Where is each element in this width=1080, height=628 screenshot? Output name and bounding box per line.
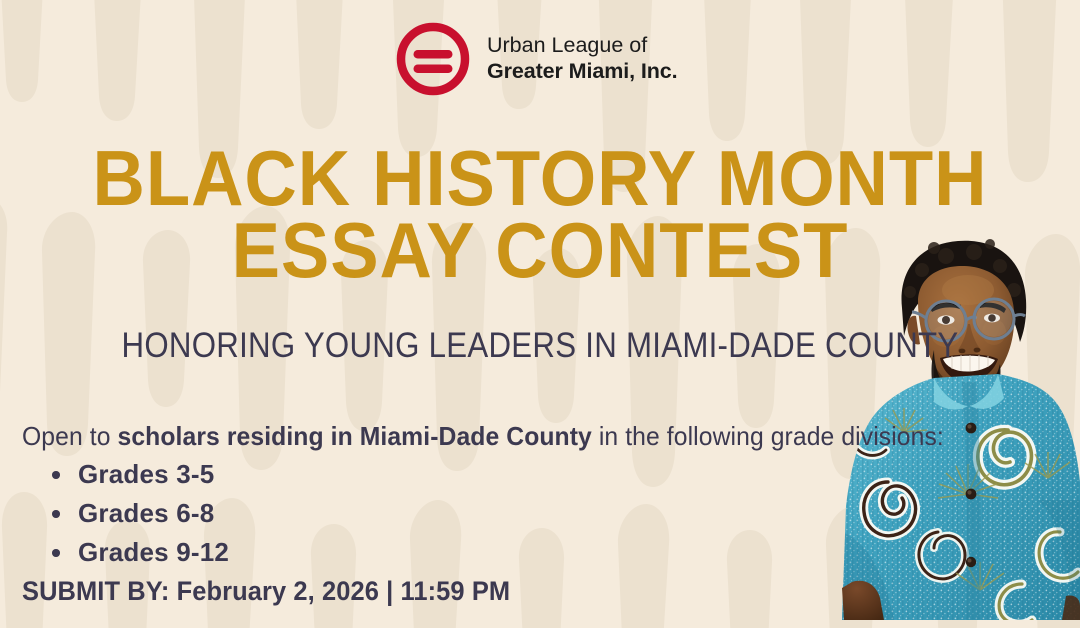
page-subtitle: HONORING YOUNG LEADERS IN MIAMI-DADE COU… xyxy=(65,328,1015,364)
poster-canvas: Urban League of Greater Miami, Inc. BLAC… xyxy=(0,0,1080,628)
urban-league-equal-sign-logo xyxy=(396,22,470,96)
list-item: Grades 3-5 xyxy=(52,461,992,487)
eligibility-intro-prefix: Open to xyxy=(22,421,118,451)
eligibility-intro-suffix: in the following grade divisions: xyxy=(592,421,944,451)
headline-line-one: BLACK HISTORY MONTH xyxy=(38,143,1042,215)
organization-logo: Urban League of Greater Miami, Inc. xyxy=(396,22,677,96)
logo-wordmark: Urban League of Greater Miami, Inc. xyxy=(487,33,677,84)
page-title: BLACK HISTORY MONTH ESSAY CONTEST xyxy=(0,143,1080,287)
list-item: Grades 6-8 xyxy=(52,500,992,526)
logo-line-one: Urban League of xyxy=(487,33,677,59)
logo-line-two: Greater Miami, Inc. xyxy=(487,59,677,85)
grade-division-list: Grades 3-5 Grades 6-8 Grades 9-12 xyxy=(22,461,992,565)
list-item: Grades 9-12 xyxy=(52,539,992,565)
eligibility-intro: Open to scholars residing in Miami-Dade … xyxy=(22,423,944,450)
eligibility-details: Open to scholars residing in Miami-Dade … xyxy=(22,423,992,605)
submission-deadline: SUBMIT BY: February 2, 2026 | 11:59 PM xyxy=(22,578,954,605)
eligibility-intro-emphasis: scholars residing in Miami-Dade County xyxy=(118,421,592,451)
headline-line-two: ESSAY CONTEST xyxy=(38,215,1042,287)
